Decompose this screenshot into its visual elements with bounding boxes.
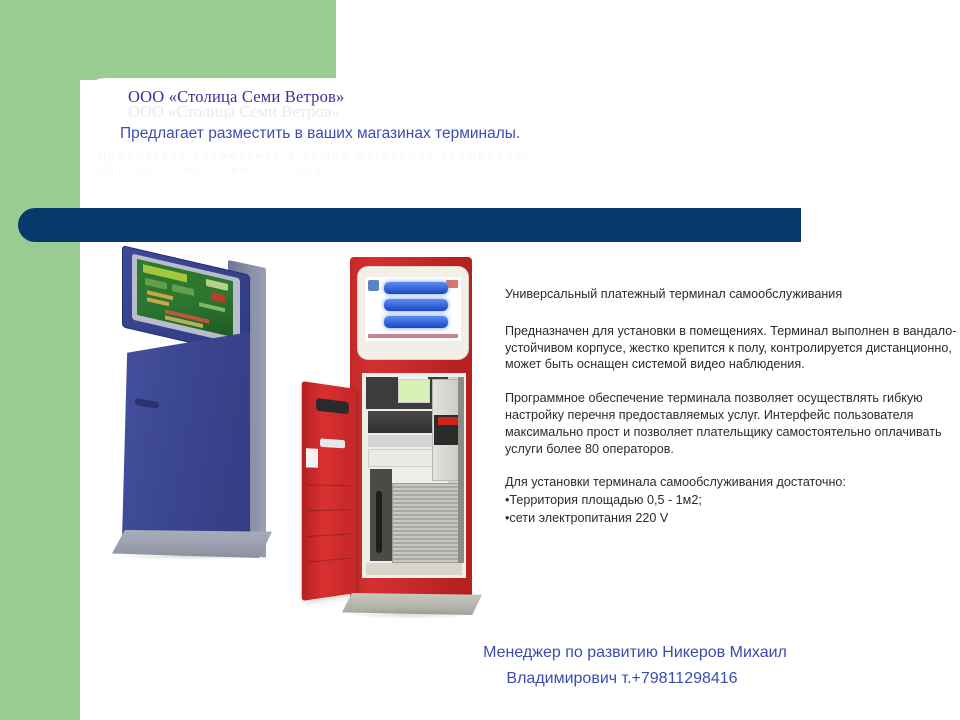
screen-button-1 [145,278,167,290]
door-label [306,448,318,468]
screen-logo [206,279,228,291]
internal-vented-pc-unit [392,483,462,563]
ghost-text-artifact-1: Предлагает разместить в ваших магазинах … [98,150,532,162]
kiosk-blue-shadow [114,552,270,560]
kiosk-red-shadow [344,609,480,619]
contact-footer: Менеджер по развитию Никеров Михаил Влад… [400,640,870,692]
kiosk-red-internal-compartment [362,373,466,578]
kiosk-red-image [300,255,500,625]
description-column: Универсальный платежный терминал самообс… [505,286,957,527]
presentation-slide: ООО «Столица Семи Ветров» ООО «Столица С… [0,0,960,720]
list-item: сети электропитания 220 V [505,510,957,528]
internal-cable-bundle [376,491,382,553]
kiosk-blue-body [122,332,250,540]
internal-floor-plate [366,563,462,575]
door-handle [316,398,349,414]
door-ridge-2 [308,509,351,511]
monitor-logo-left [368,280,379,291]
blue-divider-bar [18,208,801,242]
screen-button-exit [211,292,225,303]
slide-header: ООО «Столица Семи Ветров» ООО «Столица С… [80,78,860,198]
monitor-menu-button-1 [384,282,448,294]
contact-line-2: Владимирович т.+79811298416 [374,666,870,692]
monitor-menu-button-2 [384,299,448,311]
screen-text-line-3 [199,302,225,312]
contact-line-1: Менеджер по развитию Никеров Михаил [483,644,787,661]
kiosk-red-open-door [302,381,356,601]
monitor-menu-button-3 [384,316,448,328]
product-heading: Универсальный платежный терминал самообс… [505,286,957,303]
company-title: ООО «Столица Семи Ветров» [128,87,345,107]
offer-statement: Предлагает разместить в ваших магазинах … [120,125,520,143]
kiosk-red-monitor-screen [365,277,461,341]
internal-door-hinge-rail [458,377,464,563]
kiosk-blue-image [100,252,320,577]
description-paragraph-1: Предназначен для установки в помещениях.… [505,323,957,373]
ghost-text-artifact-2: ООО «Столица Семи Ветров» [94,164,335,175]
green-header-block [0,0,336,80]
door-ridge-4 [308,558,351,563]
door-ridge-1 [308,485,351,486]
door-latch [320,438,345,448]
screen-button-2 [172,284,194,296]
description-paragraph-2: Программное обеспечение терминала позвол… [505,390,957,457]
internal-paper-roll [398,379,430,403]
door-ridge-3 [308,533,351,537]
requirements-list: Территория площадью 0,5 - 1м2; сети элек… [505,492,957,527]
list-item: Территория площадью 0,5 - 1м2; [505,492,957,510]
requirements-intro: Для установки терминала самообслуживания… [505,474,957,491]
internal-red-label [438,417,458,425]
green-side-strip [0,80,80,720]
monitor-footer-bar [368,334,458,338]
